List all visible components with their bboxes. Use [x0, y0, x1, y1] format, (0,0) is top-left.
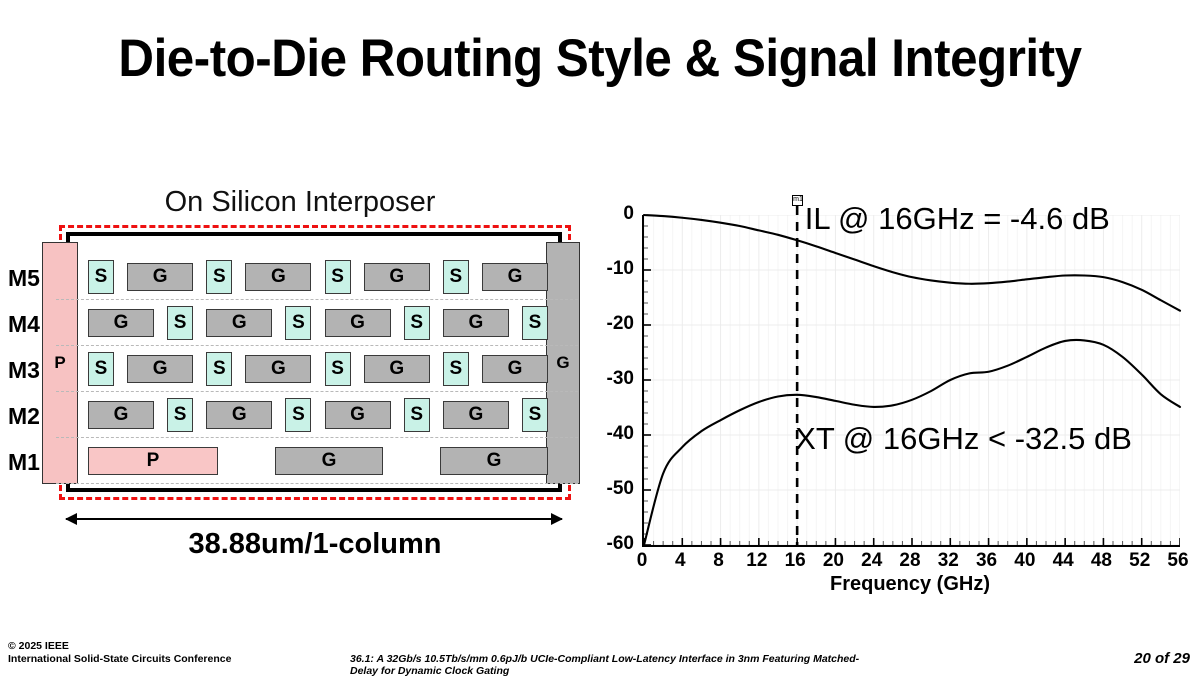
metal-layer-label: M1 — [8, 449, 52, 476]
y-tick-label: -30 — [586, 368, 634, 390]
sparameter-chart: 0-10-20-30-40-50-60 04812162024283236404… — [600, 195, 1200, 595]
signal-trace: S — [206, 260, 232, 294]
signal-trace: S — [325, 260, 351, 294]
power-trace: P — [88, 447, 218, 475]
y-tick-label: 0 — [586, 203, 634, 225]
signal-trace: S — [88, 260, 114, 294]
signal-trace: S — [325, 352, 351, 386]
metal-layer-track: SGSGSGSG — [88, 254, 548, 300]
x-tick-label: 44 — [1043, 550, 1083, 572]
x-tick-label: 40 — [1005, 550, 1045, 572]
ground-trace: G — [482, 355, 548, 383]
y-tick-label: -10 — [586, 258, 634, 280]
ground-trace: G — [88, 401, 154, 429]
conference-copyright: © 2025 IEEE International Solid-State Ci… — [8, 640, 231, 666]
x-tick-label: 16 — [775, 550, 815, 572]
ground-trace: G — [206, 309, 272, 337]
page-number: 20 of 29 — [1134, 650, 1190, 667]
ground-trace: G — [275, 447, 383, 475]
metal-layer-row: M5SGSGSGSG — [0, 254, 600, 300]
metal-layer-track: GSGSGSGS — [88, 300, 548, 346]
metal-layer-row: M4GSGSGSGS — [0, 300, 600, 346]
ground-trace: G — [443, 401, 509, 429]
top-conductor-bracket — [66, 232, 562, 242]
copyright-line: © 2025 IEEE — [8, 640, 231, 653]
metal-layer-label: M4 — [8, 311, 52, 338]
dimension-arrow — [66, 518, 562, 520]
page-title: Die-to-Die Routing Style & Signal Integr… — [42, 28, 1158, 89]
x-tick-label: 48 — [1081, 550, 1121, 572]
ground-trace: G — [245, 355, 311, 383]
metal-layer-track: SGSGSGSG — [88, 346, 548, 392]
signal-trace: S — [404, 306, 430, 340]
ground-trace: G — [325, 401, 391, 429]
signal-trace: S — [206, 352, 232, 386]
ground-trace: G — [482, 263, 548, 291]
y-tick-label: -40 — [586, 423, 634, 445]
metal-layer-row: M3SGSGSGSG — [0, 346, 600, 392]
x-tick-label: 36 — [967, 550, 1007, 572]
dimension-label: 38.88um/1-column — [59, 528, 571, 561]
ground-trace: G — [127, 355, 193, 383]
signal-trace: S — [88, 352, 114, 386]
signal-trace: S — [404, 398, 430, 432]
ground-trace: G — [245, 263, 311, 291]
signal-trace: S — [285, 398, 311, 432]
signal-trace: S — [167, 306, 193, 340]
ground-trace: G — [206, 401, 272, 429]
metal-layer-label: M3 — [8, 357, 52, 384]
x-tick-label: 28 — [890, 550, 930, 572]
x-tick-label: 24 — [852, 550, 892, 572]
x-tick-label: 32 — [928, 550, 968, 572]
interposer-caption: On Silicon Interposer — [0, 186, 600, 219]
x-tick-label: 12 — [737, 550, 777, 572]
metal-layer-track: PGG — [88, 438, 548, 484]
signal-trace: S — [522, 398, 548, 432]
metal-layer-row: M2GSGSGSGS — [0, 392, 600, 438]
marker-16ghz-box: m1 — [792, 195, 803, 206]
metal-layer-stack: M5SGSGSGSGM4GSGSGSGSM3SGSGSGSGM2GSGSGSGS… — [0, 254, 600, 484]
ground-trace: G — [440, 447, 548, 475]
ground-trace: G — [88, 309, 154, 337]
xt-annotation: XT @ 16GHz < -32.5 dB — [795, 421, 1132, 457]
x-axis-title: Frequency (GHz) — [642, 573, 1178, 596]
slide-footer: © 2025 IEEE International Solid-State Ci… — [0, 640, 1200, 675]
signal-trace: S — [443, 260, 469, 294]
paper-title-footer: 36.1: A 32Gb/s 10.5Tb/s/mm 0.6pJ/b UCIe-… — [350, 653, 870, 677]
ground-trace: G — [325, 309, 391, 337]
metal-layer-label: M2 — [8, 403, 52, 430]
x-tick-label: 56 — [1158, 550, 1198, 572]
metal-layer-divider — [56, 483, 578, 484]
interposer-diagram: On Silicon Interposer P G M5SGSGSGSGM4GS… — [0, 170, 600, 590]
signal-trace: S — [443, 352, 469, 386]
metal-layer-label: M5 — [8, 265, 52, 292]
x-tick-label: 8 — [699, 550, 739, 572]
ground-trace: G — [364, 263, 430, 291]
conference-name: International Solid-State Circuits Confe… — [8, 653, 231, 666]
il-annotation: IL @ 16GHz = -4.6 dB — [805, 201, 1110, 237]
y-tick-label: -50 — [586, 478, 634, 500]
signal-trace: S — [285, 306, 311, 340]
plot-area — [642, 215, 1180, 547]
metal-layer-track: GSGSGSGS — [88, 392, 548, 438]
x-tick-label: 20 — [813, 550, 853, 572]
metal-layer-row: M1PGG — [0, 438, 600, 484]
curve-layer — [644, 215, 1180, 545]
ground-trace: G — [364, 355, 430, 383]
ground-trace: G — [443, 309, 509, 337]
x-tick-label: 52 — [1120, 550, 1160, 572]
x-tick-label: 4 — [660, 550, 700, 572]
signal-trace: S — [522, 306, 548, 340]
x-tick-label: 0 — [622, 550, 662, 572]
signal-trace: S — [167, 398, 193, 432]
y-tick-label: -20 — [586, 313, 634, 335]
ground-trace: G — [127, 263, 193, 291]
